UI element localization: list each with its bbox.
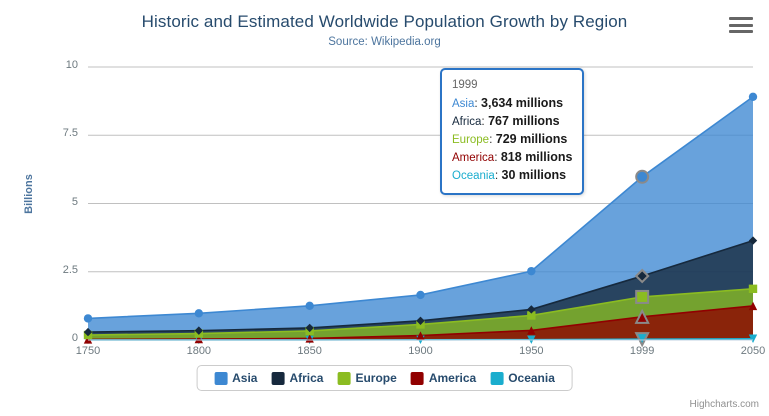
tooltip-series-value: 729 millions xyxy=(496,132,568,146)
legend-swatch-icon xyxy=(337,372,350,385)
legend-item-asia[interactable]: Asia xyxy=(214,371,257,385)
tooltip-series-name: America xyxy=(452,152,494,164)
tooltip-series-name: Africa xyxy=(452,116,481,128)
tooltip-series-name: Oceania xyxy=(452,170,495,182)
tooltip-row: America: 818 millions xyxy=(452,149,572,167)
tooltip-series-value: 3,634 millions xyxy=(481,96,563,110)
legend-label: Africa xyxy=(289,371,323,385)
x-tick-label: 1800 xyxy=(169,345,229,357)
legend-item-america[interactable]: America xyxy=(411,371,476,385)
x-tick-label: 1999 xyxy=(612,345,672,357)
y-tick-label: 2.5 xyxy=(34,264,78,276)
tooltip-row: Oceania: 30 millions xyxy=(452,167,572,185)
series-areas xyxy=(88,97,753,340)
tooltip-row: Africa: 767 millions xyxy=(452,113,572,131)
legend: AsiaAfricaEuropeAmericaOceania xyxy=(196,365,573,391)
y-axis-title: Billions xyxy=(23,159,35,229)
y-tick-label: 7.5 xyxy=(34,127,78,139)
tooltip-series-value: 30 millions xyxy=(502,168,567,182)
y-tick-label: 10 xyxy=(34,59,78,71)
tooltip-series-name: Europe xyxy=(452,134,489,146)
tooltip-separator: : xyxy=(489,132,496,146)
legend-item-africa[interactable]: Africa xyxy=(271,371,323,385)
legend-item-oceania[interactable]: Oceania xyxy=(490,371,555,385)
legend-label: America xyxy=(429,371,476,385)
tooltip: 1999 Asia: 3,634 millionsAfrica: 767 mil… xyxy=(440,68,584,195)
x-tick-label: 1950 xyxy=(501,345,561,357)
legend-swatch-icon xyxy=(411,372,424,385)
tooltip-separator: : xyxy=(494,150,501,164)
tooltip-rows: Asia: 3,634 millionsAfrica: 767 millions… xyxy=(452,95,572,185)
y-tick-label: 5 xyxy=(34,196,78,208)
tooltip-series-name: Asia xyxy=(452,98,474,110)
tooltip-series-value: 818 millions xyxy=(501,150,573,164)
tooltip-separator: : xyxy=(495,168,502,182)
legend-label: Oceania xyxy=(508,371,555,385)
tooltip-header: 1999 xyxy=(452,77,572,95)
legend-swatch-icon xyxy=(214,372,227,385)
legend-swatch-icon xyxy=(271,372,284,385)
legend-item-europe[interactable]: Europe xyxy=(337,371,396,385)
x-tick-label: 1900 xyxy=(391,345,451,357)
legend-label: Europe xyxy=(355,371,396,385)
tooltip-row: Europe: 729 millions xyxy=(452,131,572,149)
y-tick-label: 0 xyxy=(34,332,78,344)
x-tick-label: 1850 xyxy=(280,345,340,357)
highcharts-chart: Historic and Estimated Worldwide Populat… xyxy=(0,0,769,416)
legend-label: Asia xyxy=(232,371,257,385)
tooltip-row: Asia: 3,634 millions xyxy=(452,95,572,113)
x-tick-label: 1750 xyxy=(58,345,118,357)
x-tick-label: 2050 xyxy=(723,345,769,357)
legend-swatch-icon xyxy=(490,372,503,385)
credits-link[interactable]: Highcharts.com xyxy=(690,399,759,410)
tooltip-series-value: 767 millions xyxy=(488,114,560,128)
